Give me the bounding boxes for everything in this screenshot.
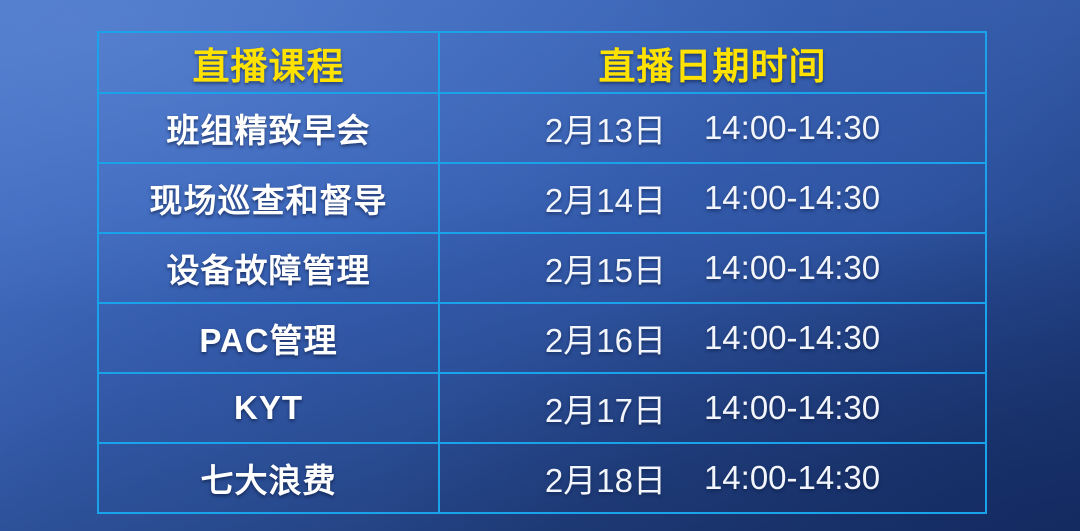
course-name-cell: 班组精致早会 xyxy=(98,93,439,163)
course-date: 2月15日 xyxy=(545,244,666,292)
course-name-cell: KYT xyxy=(98,373,439,443)
course-datetime-cell: 2月15日 14:00-14:30 xyxy=(439,233,986,303)
table-row: 设备故障管理 2月15日 14:00-14:30 xyxy=(98,233,986,303)
course-datetime-cell: 2月16日 14:00-14:30 xyxy=(439,303,986,373)
course-time: 14:00-14:30 xyxy=(704,109,880,147)
course-date: 2月13日 xyxy=(545,104,666,152)
course-time: 14:00-14:30 xyxy=(704,249,880,287)
course-time: 14:00-14:30 xyxy=(704,319,880,357)
column-header-course: 直播课程 xyxy=(98,32,439,93)
course-name-cell: 现场巡查和督导 xyxy=(98,163,439,233)
table-row: PAC管理 2月16日 14:00-14:30 xyxy=(98,303,986,373)
schedule-graphic: 直播课程 直播日期时间 班组精致早会 2月13日 14:00-14:30 现场巡… xyxy=(0,0,1080,531)
course-name-cell: 七大浪费 xyxy=(98,443,439,513)
column-header-datetime: 直播日期时间 xyxy=(439,32,986,93)
table-row: KYT 2月17日 14:00-14:30 xyxy=(98,373,986,443)
course-date: 2月14日 xyxy=(545,174,666,222)
table-row: 现场巡查和督导 2月14日 14:00-14:30 xyxy=(98,163,986,233)
table-header-row: 直播课程 直播日期时间 xyxy=(98,32,986,93)
live-course-schedule-table: 直播课程 直播日期时间 班组精致早会 2月13日 14:00-14:30 现场巡… xyxy=(97,31,987,514)
table-row: 班组精致早会 2月13日 14:00-14:30 xyxy=(98,93,986,163)
course-name-cell: 设备故障管理 xyxy=(98,233,439,303)
course-datetime-cell: 2月18日 14:00-14:30 xyxy=(439,443,986,513)
course-datetime-cell: 2月17日 14:00-14:30 xyxy=(439,373,986,443)
table-body: 班组精致早会 2月13日 14:00-14:30 现场巡查和督导 2月14日 1… xyxy=(98,93,986,513)
course-name-cell: PAC管理 xyxy=(98,303,439,373)
course-date: 2月17日 xyxy=(545,384,666,432)
course-time: 14:00-14:30 xyxy=(704,179,880,217)
course-date: 2月18日 xyxy=(545,454,666,502)
course-time: 14:00-14:30 xyxy=(704,389,880,427)
course-time: 14:00-14:30 xyxy=(704,459,880,497)
course-datetime-cell: 2月13日 14:00-14:30 xyxy=(439,93,986,163)
course-datetime-cell: 2月14日 14:00-14:30 xyxy=(439,163,986,233)
table-row: 七大浪费 2月18日 14:00-14:30 xyxy=(98,443,986,513)
course-date: 2月16日 xyxy=(545,314,666,362)
